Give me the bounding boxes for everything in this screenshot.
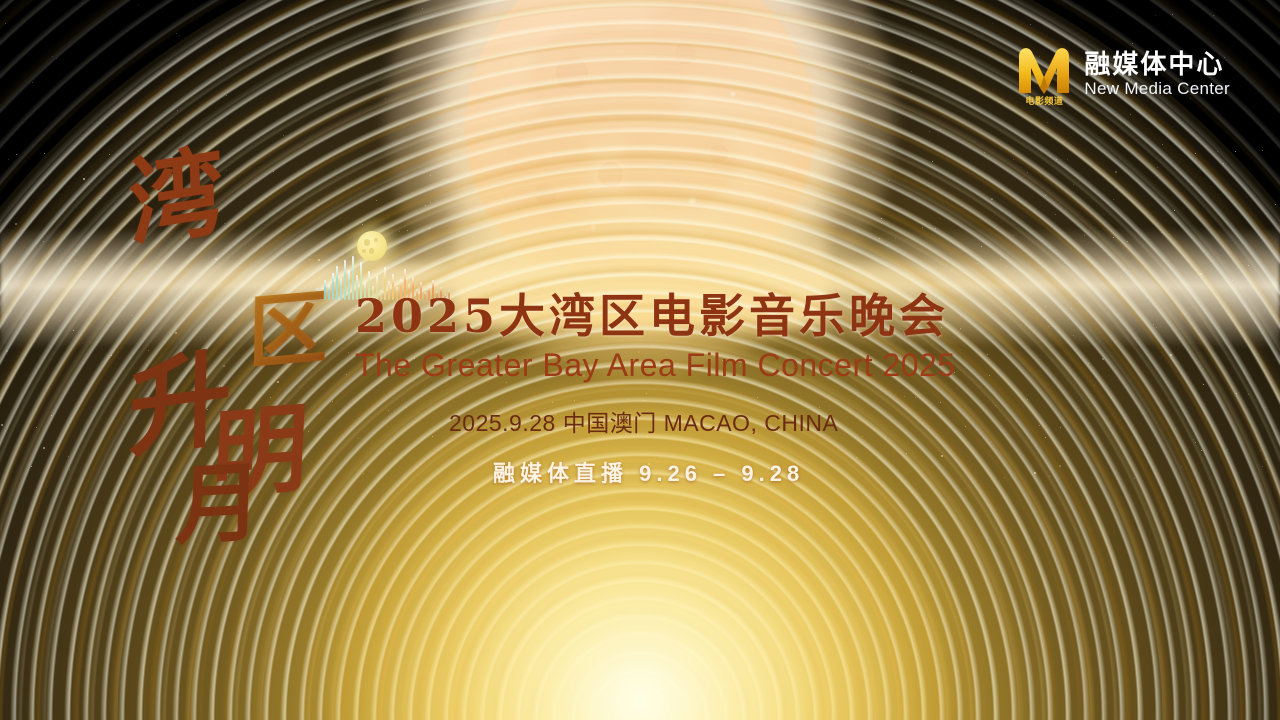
movie-channel-label: 电影频道 [1025,94,1063,107]
calligraphy-char-qu: 区 [247,286,328,373]
event-title-english: The Greater Bay Area Film Concert 2025 [355,347,955,384]
waveform-bar [340,278,342,300]
title-block: 2025大湾区电影音乐晚会 The Greater Bay Area Film … [355,292,955,488]
waveform-bar [344,260,346,300]
livestream-schedule: 融媒体直播 9.26 – 9.28 [493,456,955,488]
waveform-bar [348,270,350,300]
calligraphy-char-yue: 月 [175,460,264,551]
event-title-chinese: 2025大湾区电影音乐晚会 [355,292,955,342]
new-media-center-logo[interactable]: 电影频道 融媒体中心 New Media Center [1016,44,1230,106]
logo-name-chinese: 融媒体中心 [1084,52,1230,79]
event-date-location: 2025.9.28 中国澳门 MACAO, CHINA [449,404,955,438]
logo-text-group: 融媒体中心 New Media Center [1084,52,1230,99]
calligraphy-char-wan: 湾 [127,142,225,254]
waveform-bar [352,256,354,300]
calligraphy-wanqu-shengmingyue: 湾 区 升 明 月 [0,0,340,560]
concert-poster: 湾 区 升 明 月 2025大湾区电影音乐晚会 The Greater Bay … [0,0,1280,720]
movie-channel-m-icon: 电影频道 [1016,44,1072,106]
logo-name-english: New Media Center [1084,80,1230,99]
